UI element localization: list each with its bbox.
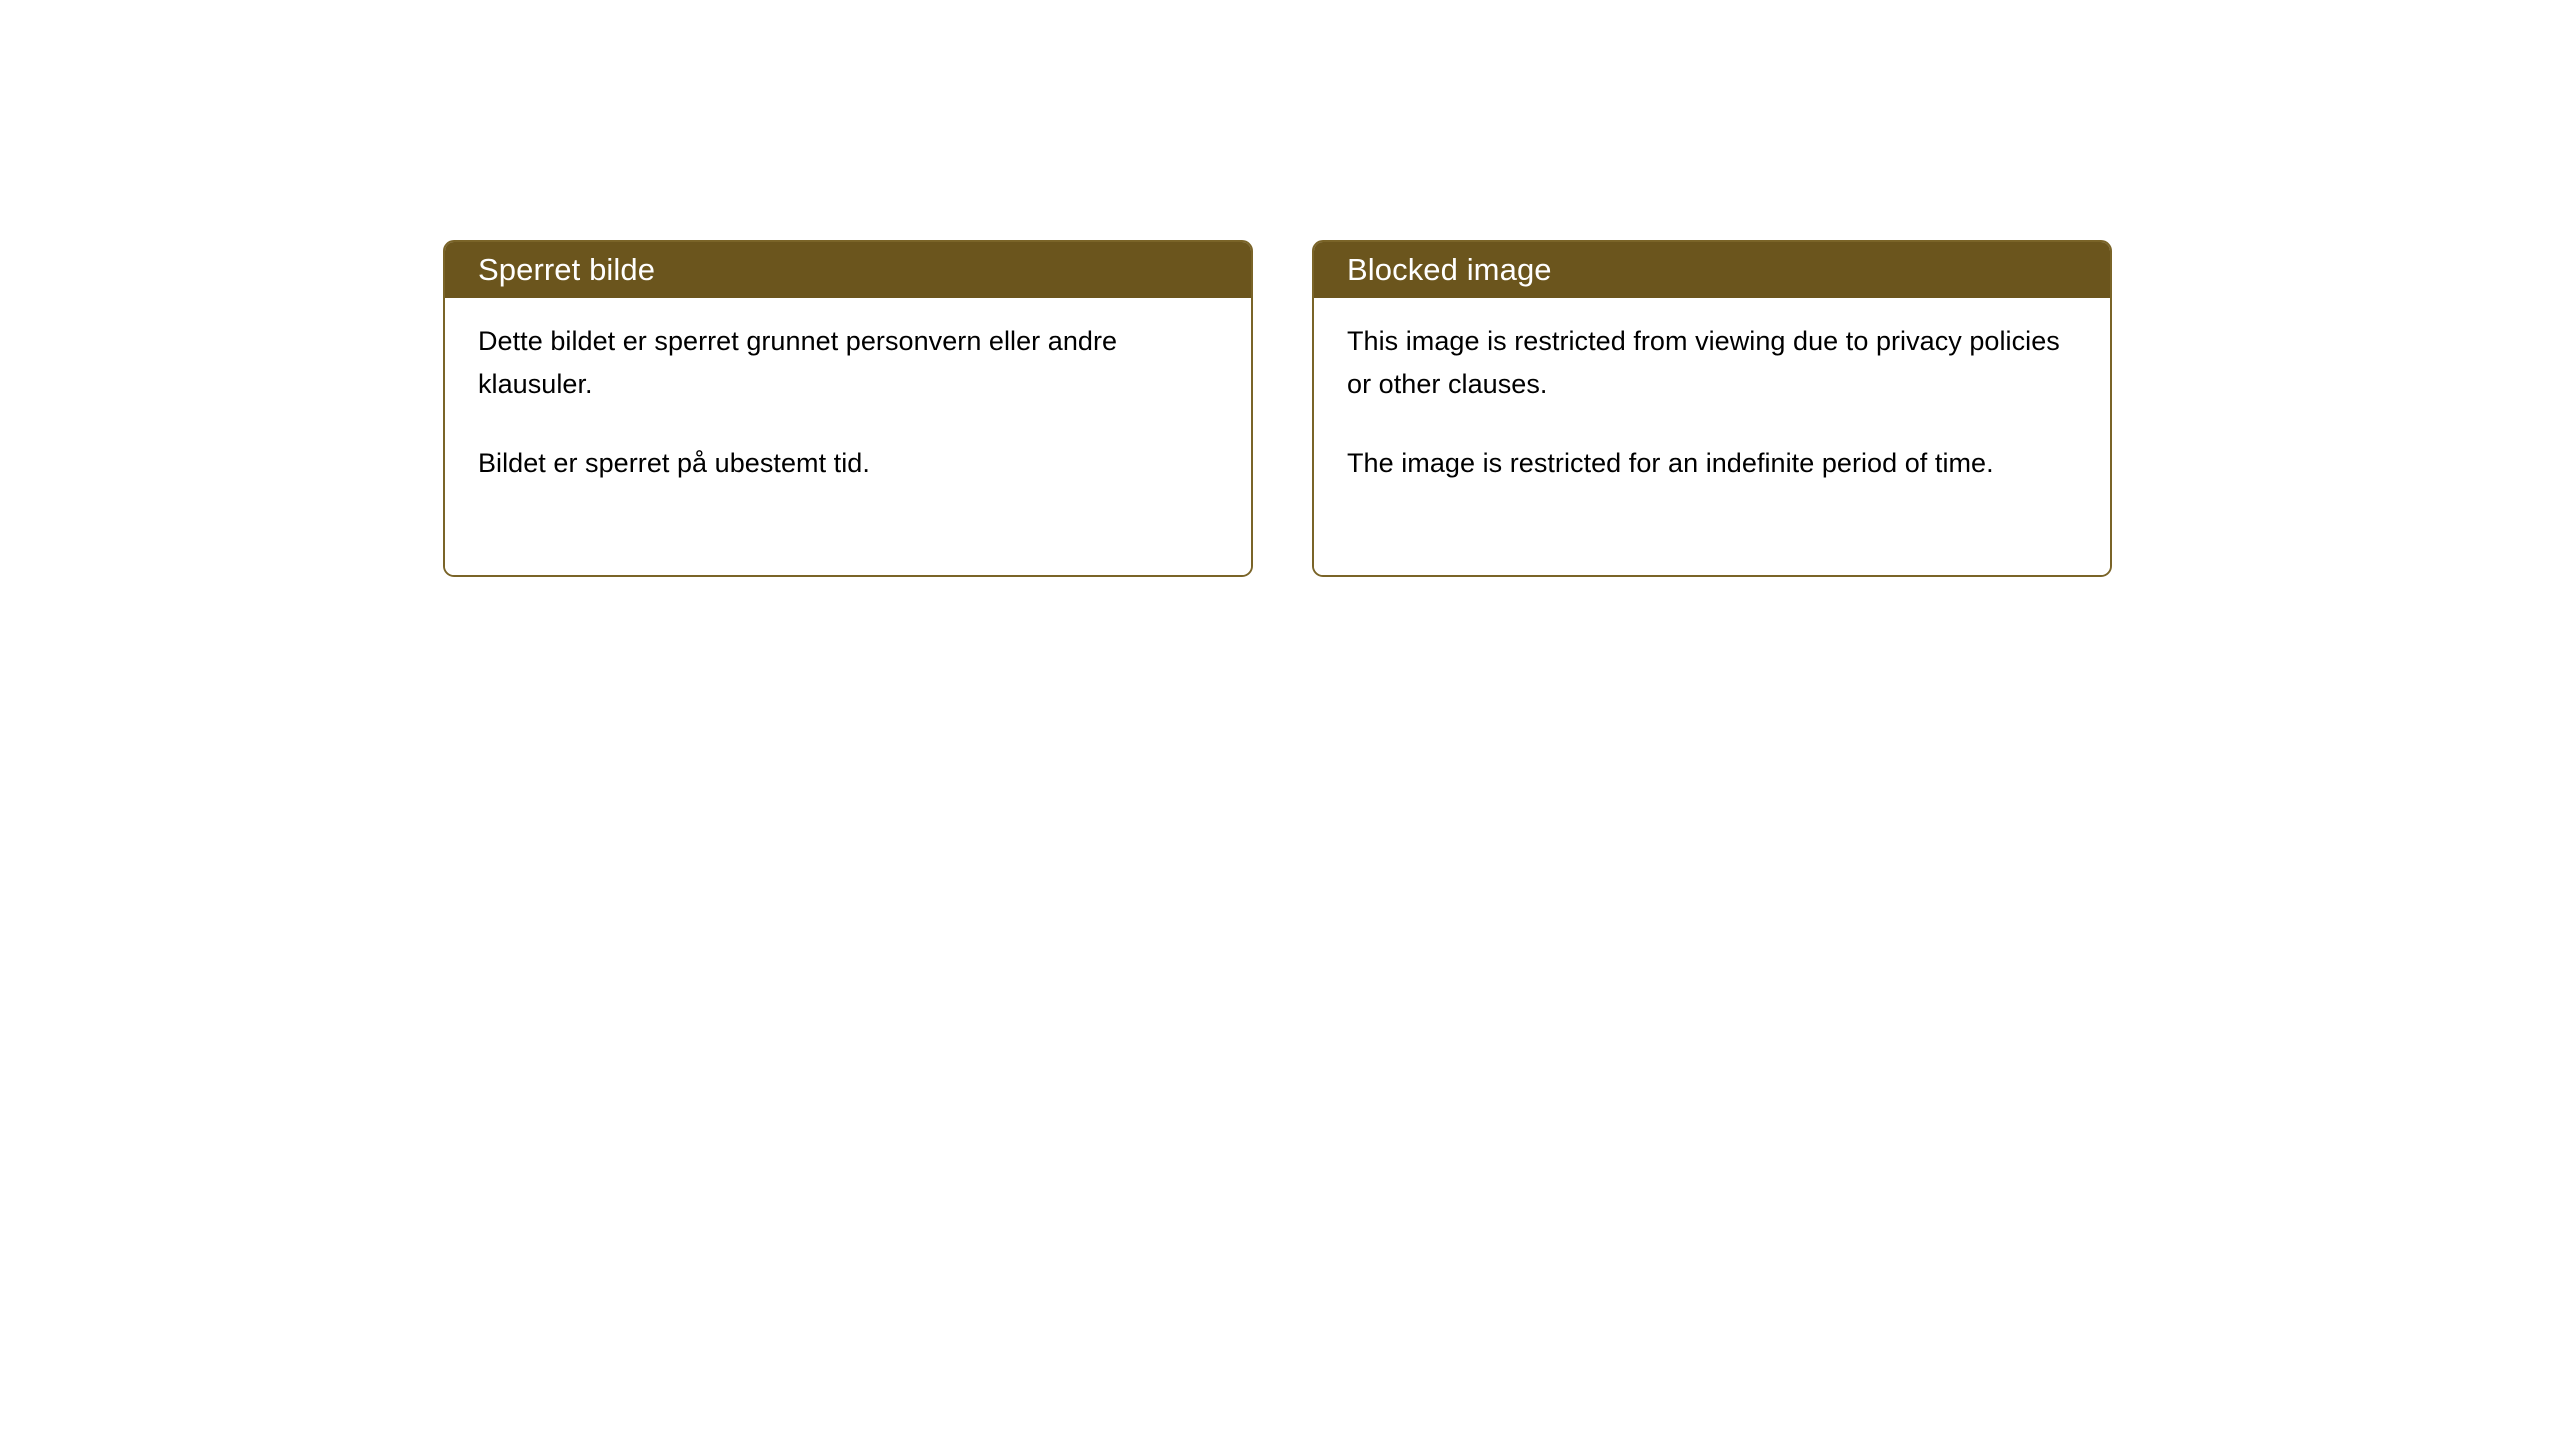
notice-paragraph-secondary-english: The image is restricted for an indefinit…: [1347, 442, 2086, 485]
notice-paragraph-primary-english: This image is restricted from viewing du…: [1347, 320, 2086, 406]
notice-title-norwegian: Sperret bilde: [478, 253, 655, 287]
notice-title-english: Blocked image: [1347, 253, 1552, 287]
notice-header-norwegian: Sperret bilde: [445, 242, 1251, 298]
blocked-image-notice-norwegian: Sperret bilde Dette bildet er sperret gr…: [443, 240, 1253, 577]
notice-body-norwegian: Dette bildet er sperret grunnet personve…: [445, 298, 1251, 575]
notice-body-english: This image is restricted from viewing du…: [1314, 298, 2110, 575]
notice-header-english: Blocked image: [1314, 242, 2110, 298]
notice-paragraph-primary-norwegian: Dette bildet er sperret grunnet personve…: [478, 320, 1227, 406]
page-canvas: Sperret bilde Dette bildet er sperret gr…: [0, 0, 2560, 1440]
notice-paragraph-secondary-norwegian: Bildet er sperret på ubestemt tid.: [478, 442, 1227, 485]
blocked-image-notice-english: Blocked image This image is restricted f…: [1312, 240, 2112, 577]
